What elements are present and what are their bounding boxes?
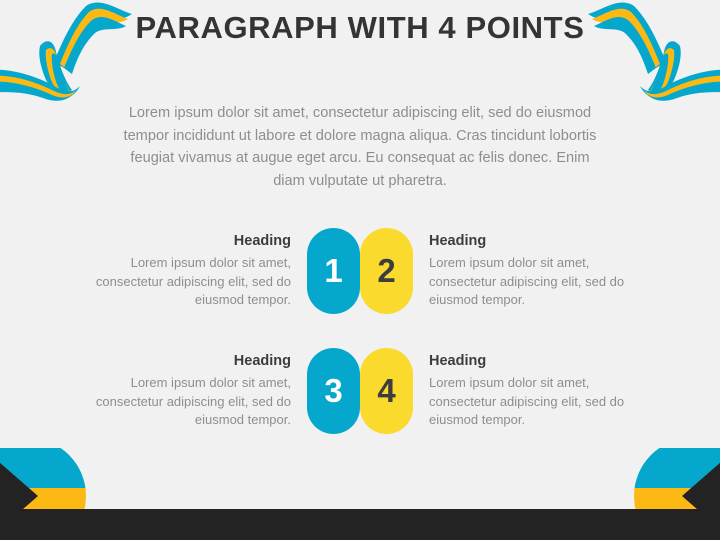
point-heading-4: Heading xyxy=(429,352,625,371)
points-row-top: Heading Lorem ipsum dolor sit amet, cons… xyxy=(0,228,720,348)
point-body-2: Lorem ipsum dolor sit amet, consectetur … xyxy=(429,254,625,310)
point-heading-2: Heading xyxy=(429,232,625,251)
point-text-1: Heading Lorem ipsum dolor sit amet, cons… xyxy=(95,228,291,310)
point-text-2: Heading Lorem ipsum dolor sit amet, cons… xyxy=(429,228,625,310)
point-body-4: Lorem ipsum dolor sit amet, consectetur … xyxy=(429,374,625,430)
point-text-3: Heading Lorem ipsum dolor sit amet, cons… xyxy=(95,348,291,430)
intro-paragraph: Lorem ipsum dolor sit amet, consectetur … xyxy=(118,102,602,192)
point-body-1: Lorem ipsum dolor sit amet, consectetur … xyxy=(95,254,291,310)
point-heading-1: Heading xyxy=(95,232,291,251)
point-body-3: Lorem ipsum dolor sit amet, consectetur … xyxy=(95,374,291,430)
point-item-3[interactable]: Heading Lorem ipsum dolor sit amet, cons… xyxy=(50,348,360,434)
points-grid: Heading Lorem ipsum dolor sit amet, cons… xyxy=(0,228,720,468)
point-number-badge-3[interactable]: 3 xyxy=(307,348,360,434)
point-text-4: Heading Lorem ipsum dolor sit amet, cons… xyxy=(429,348,625,430)
point-heading-3: Heading xyxy=(95,352,291,371)
page-title: PARAGRAPH WITH 4 POINTS xyxy=(0,8,720,48)
point-item-2[interactable]: 2 Heading Lorem ipsum dolor sit amet, co… xyxy=(360,228,670,314)
point-item-4[interactable]: 4 Heading Lorem ipsum dolor sit amet, co… xyxy=(360,348,670,434)
points-row-bottom: Heading Lorem ipsum dolor sit amet, cons… xyxy=(0,348,720,468)
footer-bar xyxy=(0,509,720,540)
point-item-1[interactable]: Heading Lorem ipsum dolor sit amet, cons… xyxy=(50,228,360,314)
point-number-badge-1[interactable]: 1 xyxy=(307,228,360,314)
point-number-badge-4[interactable]: 4 xyxy=(360,348,413,434)
slide-canvas: PARAGRAPH WITH 4 POINTS Lorem ipsum dolo… xyxy=(0,0,720,540)
point-number-badge-2[interactable]: 2 xyxy=(360,228,413,314)
